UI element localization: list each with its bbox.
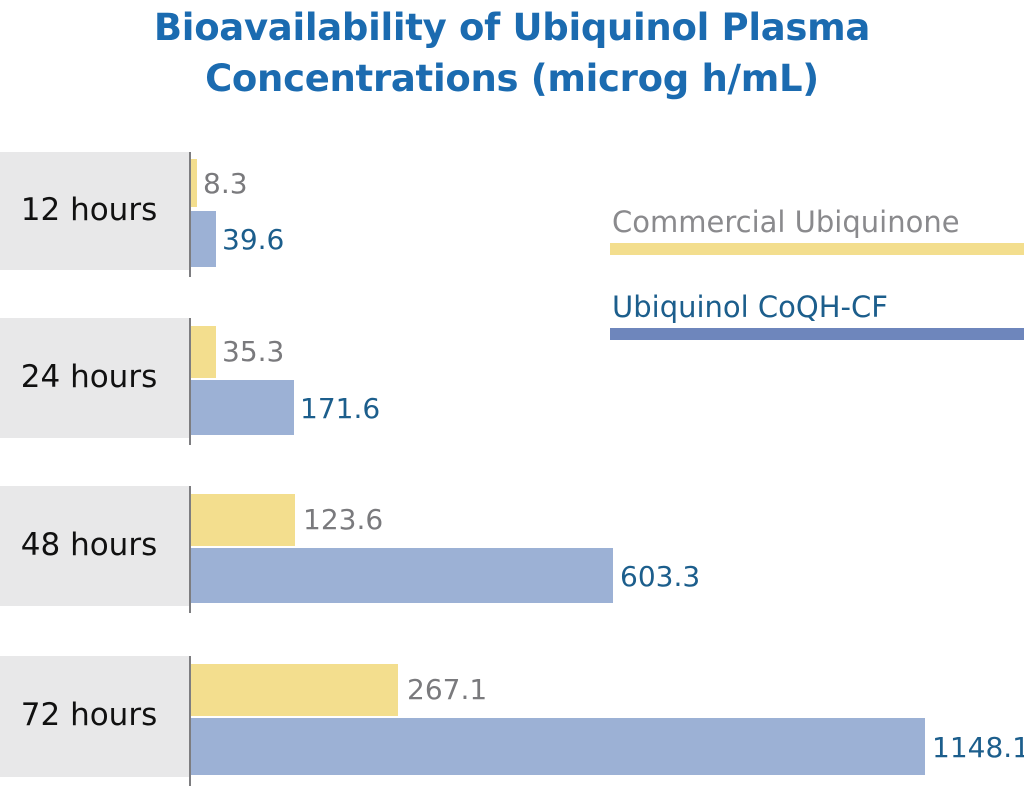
bar-ubiquinol-coqh-cf-48-hours [191,548,613,603]
legend-entry-ubiquinol-coqh-cf[interactable]: Ubiquinol CoQH-CF [610,290,1024,342]
category-label-24-hours: 24 hours [0,359,178,395]
value-label-ubiquinol-coqh-cf-24-hours: 171.6 [300,392,380,425]
bar-commercial-ubiquinone-48-hours [191,494,295,546]
category-group-48-hours: 48 hours 123.6 603.3 [0,486,1024,613]
value-label-commercial-ubiquinone-24-hours: 35.3 [222,335,284,368]
value-label-ubiquinol-coqh-cf-12-hours: 39.6 [222,223,284,256]
category-label-72-hours: 72 hours [0,697,178,733]
legend-entry-commercial-ubiquinone[interactable]: Commercial Ubiquinone [610,205,1024,257]
legend-swatch-ubiquinol-coqh-cf [610,328,1024,340]
bar-ubiquinol-coqh-cf-12-hours [191,211,216,267]
value-label-commercial-ubiquinone-12-hours: 8.3 [203,167,248,200]
category-group-72-hours: 72 hours 267.1 1148.1 [0,656,1024,786]
legend-label-commercial-ubiquinone: Commercial Ubiquinone [612,205,960,239]
plot-area: 12 hours 8.3 39.6 24 hours 35.3 171.6 48… [0,0,1024,786]
value-label-ubiquinol-coqh-cf-48-hours: 603.3 [620,560,700,593]
value-label-commercial-ubiquinone-72-hours: 267.1 [407,673,487,706]
value-label-ubiquinol-coqh-cf-72-hours: 1148.1 [932,731,1024,764]
category-label-48-hours: 48 hours [0,527,178,563]
bar-commercial-ubiquinone-12-hours [191,159,197,207]
bar-commercial-ubiquinone-72-hours [191,664,398,716]
bar-commercial-ubiquinone-24-hours [191,326,216,378]
legend-swatch-commercial-ubiquinone [610,243,1024,255]
chart-container: Bioavailability of Ubiquinol Plasma Conc… [0,0,1024,786]
bar-ubiquinol-coqh-cf-24-hours [191,380,294,435]
category-label-12-hours: 12 hours [0,192,178,228]
value-label-commercial-ubiquinone-48-hours: 123.6 [303,503,383,536]
legend-label-ubiquinol-coqh-cf: Ubiquinol CoQH-CF [612,290,888,324]
bar-ubiquinol-coqh-cf-72-hours [191,718,925,775]
